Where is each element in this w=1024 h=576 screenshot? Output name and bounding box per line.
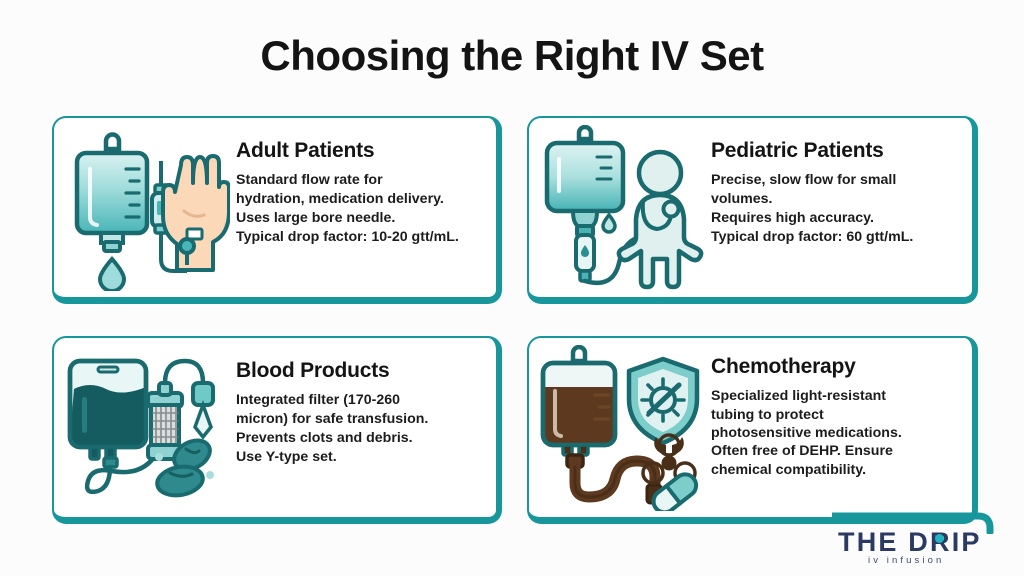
- card-description: Integrated filter (170-260 micron) for s…: [236, 391, 488, 467]
- card-description: Specialized light-resistant tubing to pr…: [711, 387, 964, 479]
- card-heading: Pediatric Patients: [711, 140, 964, 162]
- card-adult-patients[interactable]: Adult Patients Standard flow rate for hy…: [52, 116, 502, 304]
- logo-wordmark: THE DRIP: [838, 527, 982, 558]
- logo-tagline: iv infusion: [868, 555, 944, 566]
- card-pediatric-patients[interactable]: Pediatric Patients Precise, slow flow fo…: [527, 116, 978, 304]
- infographic-page: Choosing the Right IV Set: [0, 0, 1024, 576]
- card-heading: Chemotherapy: [711, 356, 964, 378]
- card-body: Adult Patients Standard flow rate for hy…: [236, 118, 496, 247]
- logo-accent-dot: [935, 534, 944, 543]
- card-description: Precise, slow flow for small volumes. Re…: [711, 171, 964, 247]
- card-heading: Blood Products: [236, 360, 488, 382]
- card-heading: Adult Patients: [236, 140, 488, 162]
- blood-bag-filter-icon: [54, 338, 236, 517]
- iv-bag-child-icon: [529, 118, 711, 297]
- brand-logo[interactable]: THE DRIP iv infusion: [832, 510, 1002, 568]
- page-title: Choosing the Right IV Set: [0, 32, 1024, 80]
- card-body: Blood Products Integrated filter (170-26…: [236, 338, 496, 467]
- card-chemotherapy[interactable]: Chemotherapy Specialized light-resistant…: [527, 336, 978, 524]
- card-blood-products[interactable]: Blood Products Integrated filter (170-26…: [52, 336, 502, 524]
- card-body: Chemotherapy Specialized light-resistant…: [711, 338, 972, 479]
- card-body: Pediatric Patients Precise, slow flow fo…: [711, 118, 972, 247]
- card-description: Standard flow rate for hydration, medica…: [236, 171, 488, 247]
- iv-bag-hand-icon: [54, 118, 236, 297]
- chemo-bag-shield-icon: [529, 338, 711, 517]
